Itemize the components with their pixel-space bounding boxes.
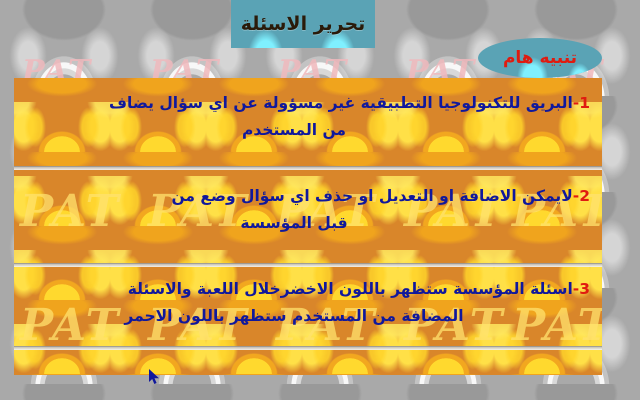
rules-list: 1-البريق للتكنولوجيا التطبيقية غير مسؤول… <box>14 78 602 375</box>
rule-line-secondary: المضافة من المستخدم ستظهر باللون الاحمر <box>14 303 602 330</box>
window-title-plate: تحرير الاسئلة <box>231 0 375 48</box>
rule-item: 2-لايمكن الاضافة او التعديل او حذف اي سؤ… <box>14 183 602 237</box>
mouse-pointer-icon <box>148 369 162 385</box>
rule-line-secondary: من المستخدم <box>14 117 602 144</box>
application-screen: PAT PAT PAT PAT PAT تحرير الاسئلة تنبيه … <box>0 0 640 400</box>
rule-number: 3- <box>573 280 590 298</box>
rule-line-primary: 1-البريق للتكنولوجيا التطبيقية غير مسؤول… <box>14 90 602 117</box>
page-title: تحرير الاسئلة <box>231 0 375 48</box>
important-notice-badge: تنبيه هام <box>478 38 602 78</box>
rule-line-secondary: قبل المؤسسة <box>14 210 602 237</box>
rule-item: 3-اسئلة المؤسسة ستظهر باللون الاخضرخلال … <box>14 276 602 330</box>
rules-panel: PAT PAT PAT PAT PAT PAT PAT PAT PAT PAT … <box>14 78 602 375</box>
rule-text: اسئلة المؤسسة ستظهر باللون الاخضرخلال ال… <box>128 280 573 298</box>
rule-line-primary: 3-اسئلة المؤسسة ستظهر باللون الاخضرخلال … <box>14 276 602 303</box>
rule-text: لايمكن الاضافة او التعديل او حذف اي سؤال… <box>171 187 572 205</box>
rule-text: البريق للتكنولوجيا التطبيقية غير مسؤولة … <box>109 94 573 112</box>
rule-item: 1-البريق للتكنولوجيا التطبيقية غير مسؤول… <box>14 90 602 144</box>
notice-badge-label: تنبيه هام <box>478 38 602 78</box>
rule-line-primary: 2-لايمكن الاضافة او التعديل او حذف اي سؤ… <box>14 183 602 210</box>
rule-number: 2- <box>573 187 590 205</box>
rule-number: 1- <box>573 94 590 112</box>
